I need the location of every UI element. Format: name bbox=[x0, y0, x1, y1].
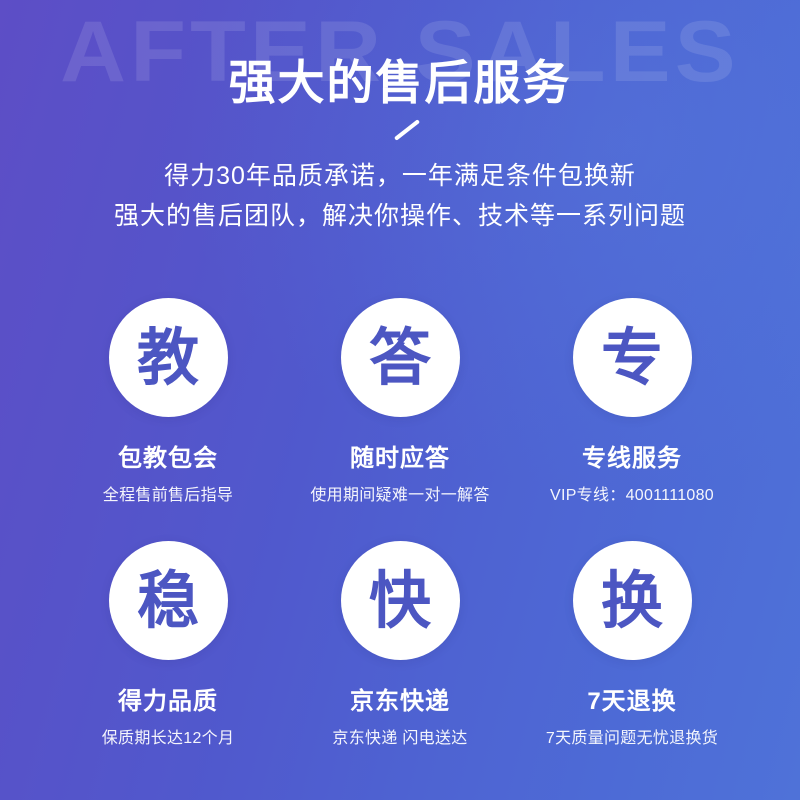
feature-description: 使用期间疑难一对一解答 bbox=[310, 485, 489, 507]
feature-title: 专线服务 bbox=[582, 444, 682, 474]
feature-title: 包教包会 bbox=[118, 444, 218, 474]
badge-glyph: 换 bbox=[601, 571, 663, 633]
feature-description: 全程售前售后指导 bbox=[103, 485, 233, 507]
subtitle-line-1: 得力30年品质承诺，一年满足条件包换新 bbox=[0, 156, 800, 196]
badge-huan-icon: 换 bbox=[573, 541, 692, 660]
feature-description: 7天质量问题无忧退换货 bbox=[546, 728, 718, 750]
feature-item-kuai: 快 京东快递 京东快递 闪电送达 bbox=[284, 541, 516, 784]
badge-da-icon: 答 bbox=[341, 298, 460, 417]
feature-item-zhuan: 专 专线服务 VIP专线：4001111080 bbox=[516, 298, 748, 541]
feature-title: 随时应答 bbox=[350, 444, 450, 474]
badge-wen-icon: 稳 bbox=[109, 541, 228, 660]
feature-description: 保质期长达12个月 bbox=[102, 728, 235, 750]
feature-description: 京东快递 闪电送达 bbox=[332, 728, 467, 750]
badge-glyph: 教 bbox=[137, 328, 199, 390]
feature-description: VIP专线：4001111080 bbox=[550, 485, 714, 507]
badge-jiao-icon: 教 bbox=[109, 298, 228, 417]
page-title: 强大的售后服务 bbox=[0, 54, 800, 112]
badge-glyph: 专 bbox=[601, 328, 663, 390]
feature-grid: 教 包教包会 全程售前售后指导 答 随时应答 使用期间疑难一对一解答 专 专线服… bbox=[0, 298, 800, 784]
feature-item-wen: 稳 得力品质 保质期长达12个月 bbox=[52, 541, 284, 784]
feature-title: 7天退换 bbox=[587, 687, 676, 717]
slash-icon bbox=[394, 119, 420, 141]
badge-glyph: 答 bbox=[369, 328, 431, 390]
subtitle-line-2: 强大的售后团队，解决你操作、技术等一系列问题 bbox=[0, 196, 800, 236]
feature-item-jiao: 教 包教包会 全程售前售后指导 bbox=[52, 298, 284, 541]
badge-kuai-icon: 快 bbox=[341, 541, 460, 660]
badge-glyph: 稳 bbox=[137, 571, 199, 633]
feature-item-da: 答 随时应答 使用期间疑难一对一解答 bbox=[284, 298, 516, 541]
poster-header: 强大的售后服务 得力30年品质承诺，一年满足条件包换新 强大的售后团队，解决你操… bbox=[0, 0, 800, 236]
subtitle-block: 得力30年品质承诺，一年满足条件包换新 强大的售后团队，解决你操作、技术等一系列… bbox=[0, 156, 800, 236]
badge-zhuan-icon: 专 bbox=[573, 298, 692, 417]
badge-glyph: 快 bbox=[369, 571, 431, 633]
feature-title: 京东快递 bbox=[350, 687, 450, 717]
after-sales-poster: AFTER SALES 强大的售后服务 得力30年品质承诺，一年满足条件包换新 … bbox=[0, 0, 800, 800]
slash-divider bbox=[0, 118, 800, 152]
feature-title: 得力品质 bbox=[118, 687, 218, 717]
feature-item-huan: 换 7天退换 7天质量问题无忧退换货 bbox=[516, 541, 748, 784]
